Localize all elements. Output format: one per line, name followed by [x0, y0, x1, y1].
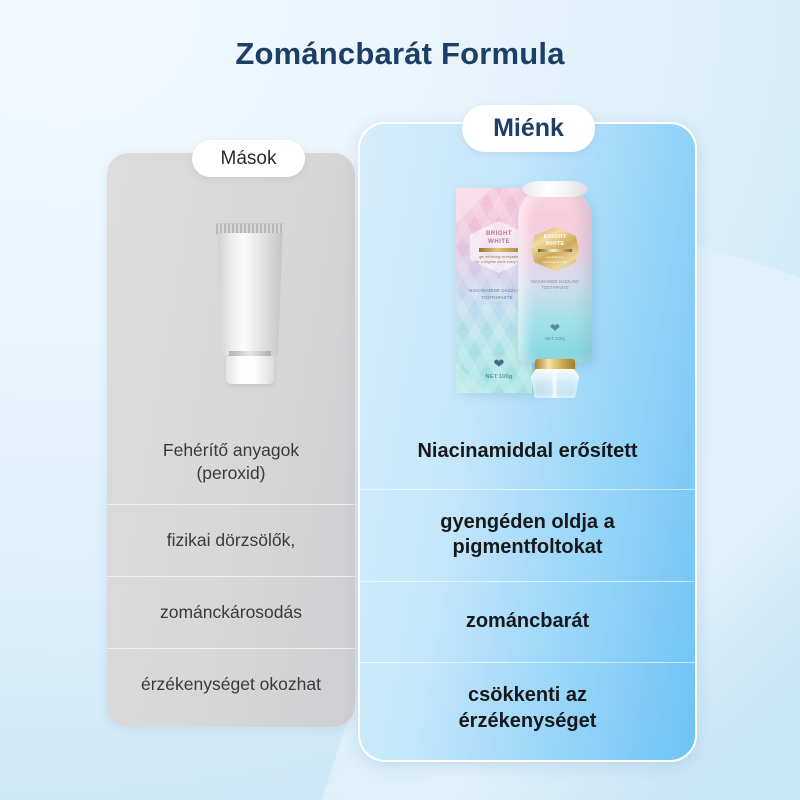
others-feature-item: fizikai dörzsölők, [107, 504, 355, 576]
ours-feature-item: Niacinamiddal erősített [360, 414, 695, 489]
comparison-infographic: Zománcbarát Formula Mások Fehérítő anyag… [0, 0, 800, 800]
tube-net-weight: NET:100g [518, 336, 592, 341]
ours-feature-item: gyengéden oldja a pigmentfoltokat [360, 489, 695, 581]
box-sub-line1: gel whitening toothpaste [479, 255, 518, 259]
others-feature-text: érzékenységet okozhat [141, 673, 321, 696]
tube-description: NIACINAMIDE DAZZLING TOOTHPASTE [524, 279, 586, 291]
others-feature-list: Fehérítő anyagok (peroxid) fizikai dörzs… [107, 420, 355, 720]
ours-feature-text: zománcbarát [466, 609, 589, 635]
others-feature-item: érzékenységet okozhat [107, 648, 355, 720]
box-brand-line1: BRIGHT [486, 230, 512, 237]
product-tube: BRIGHT WHITE gel whitening for a brighte… [518, 175, 592, 400]
tube-body [213, 233, 287, 355]
others-feature-item: zománckárosodás [107, 576, 355, 648]
ours-feature-text: gyengéden oldja a pigmentfoltokat [440, 510, 614, 561]
tube-gold-bar [538, 249, 572, 252]
others-feature-text: Fehérítő anyagok (peroxid) [163, 439, 299, 485]
tube-crystal-cap [531, 369, 579, 398]
ours-feature-item: csökkenti az érzékenységet [360, 662, 695, 754]
ours-product-image: BRIGHT WHITE gel whitening toothpaste fo… [456, 175, 611, 400]
ours-label-pill: Miénk [462, 105, 595, 152]
tube-cap [226, 356, 274, 384]
box-sub-line2: for a brighter smile every day [475, 260, 522, 264]
ours-feature-item: zománcbarát [360, 581, 695, 663]
tooth-logo-icon: ❤ [488, 356, 510, 371]
tube-brand-line2: WHITE [546, 241, 565, 247]
ours-feature-text: csökkenti az érzékenységet [459, 683, 597, 734]
others-label-pill: Mások [192, 140, 305, 177]
page-title: Zománcbarát Formula [0, 36, 800, 72]
tube-seam [522, 181, 588, 197]
box-gold-bar [479, 248, 519, 252]
tube-sub-line1: gel whitening [547, 255, 564, 259]
ours-feature-list: Niacinamiddal erősített gyengéden oldja … [360, 414, 695, 754]
others-label-text: Mások [221, 148, 277, 170]
tube-brand-line1: BRIGHT [544, 234, 566, 240]
tooth-logo-icon: ❤ [544, 321, 566, 335]
others-feature-text: fizikai dörzsölők, [167, 529, 295, 552]
others-feature-text: zománckárosodás [160, 601, 302, 624]
tube-sub-line2: for a brighter smile [543, 260, 567, 264]
ours-label-text: Miénk [493, 114, 564, 143]
ours-feature-text: Niacinamiddal erősített [417, 439, 637, 465]
others-feature-item: Fehérítő anyagok (peroxid) [107, 420, 355, 504]
others-product-image [213, 223, 287, 378]
box-brand-line2: WHITE [488, 238, 510, 245]
